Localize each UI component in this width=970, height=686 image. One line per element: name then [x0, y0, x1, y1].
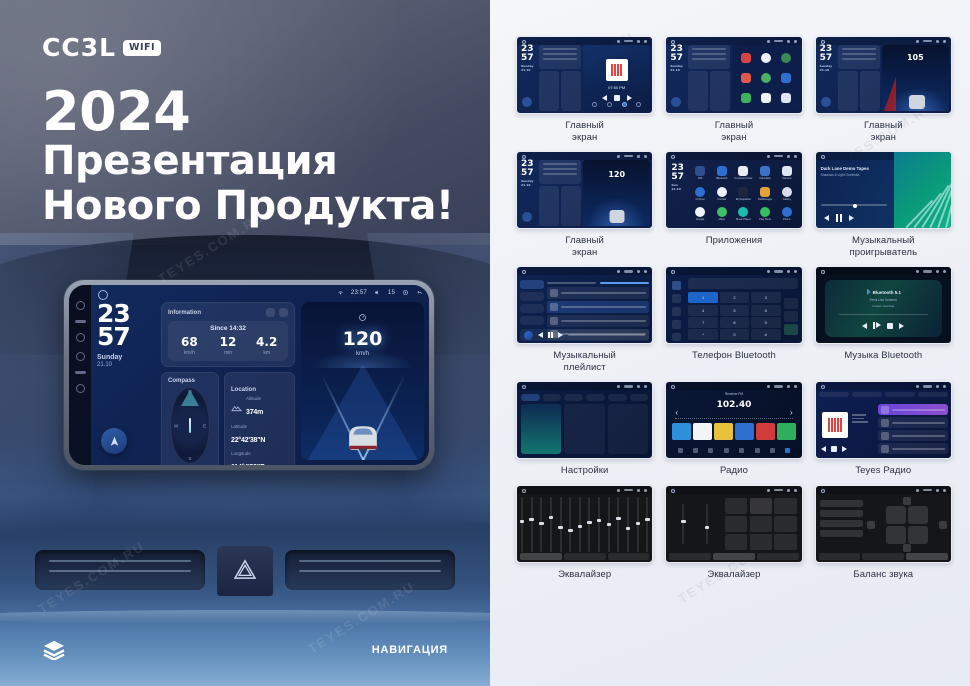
eq-slider[interactable] [646, 497, 648, 552]
bluetooth-artist: Custom Launcher [872, 304, 894, 308]
equalizer-tabs[interactable] [819, 553, 948, 560]
tab-about[interactable] [608, 394, 627, 401]
thumb-equalizer[interactable]: Эквалайзер [516, 485, 653, 581]
dial-key-3[interactable]: 3 [751, 292, 781, 303]
mini-nav-fab [522, 97, 532, 107]
tab-balance[interactable] [757, 553, 799, 560]
preset-6[interactable] [777, 423, 796, 440]
stop-icon[interactable] [831, 446, 837, 452]
mini-drive-widget: 105 [882, 45, 949, 111]
radio-dial-scale[interactable] [675, 413, 792, 419]
thumb-status-bar [816, 382, 951, 390]
equalizer-tabs[interactable] [520, 553, 649, 560]
thumb-image[interactable]: 2357Sun21.10 Wifi Bluetooth Keyboard Cle… [665, 151, 802, 229]
preset-5[interactable] [756, 423, 775, 440]
thumb-status-bar [666, 486, 801, 494]
more-card[interactable] [608, 404, 648, 454]
rail-apps-icon[interactable] [76, 333, 85, 342]
equalizer-sliders[interactable] [521, 497, 648, 552]
station-meta [852, 414, 868, 423]
compass-label-n: N [188, 389, 191, 394]
thumb-image[interactable]: 2357 Sunday21.10 07:50 PM [516, 36, 653, 114]
thumb-caption: Телефон Bluetooth [692, 350, 776, 362]
radio-band: Receiver FM [669, 392, 798, 396]
information-card-body: Since 14:32 68 km/h 12 [168, 321, 288, 361]
thumb-equalizer-2[interactable]: Эквалайзер [665, 485, 802, 581]
preset-button[interactable] [750, 498, 772, 514]
preset-button[interactable] [750, 534, 772, 550]
dialpad[interactable]: 123 456 789 *0# [688, 292, 797, 340]
thumb-caption: Эквалайзер [558, 569, 611, 581]
compass-label-s: S [188, 456, 191, 461]
eq-slider[interactable] [627, 497, 629, 552]
eq-slider[interactable] [521, 497, 523, 552]
stat-speed-value: 68 [170, 336, 209, 348]
thumb-image[interactable]: 2357Sunday21.10 120 [516, 151, 653, 229]
favorite-icon[interactable] [784, 298, 798, 309]
air-vent-right [285, 550, 455, 590]
eq-slider[interactable] [531, 497, 533, 552]
sidebar-item-folders[interactable] [520, 316, 544, 325]
hazard-button[interactable] [217, 546, 273, 596]
mini-speed-value: 120 [583, 170, 650, 179]
eq-slider[interactable] [637, 497, 639, 552]
tab-display[interactable] [564, 394, 583, 401]
app-item[interactable]: Chrome [690, 184, 710, 202]
stat-duration-unit: min [209, 350, 248, 356]
prev-icon[interactable] [821, 446, 826, 452]
wifi-card[interactable] [521, 404, 561, 454]
thumb-status-bar [517, 37, 652, 45]
tune-up-icon[interactable]: › [790, 408, 793, 417]
mountain-icon [231, 403, 242, 412]
app-item[interactable]: Google [690, 205, 710, 223]
thumb-caption: Teyes Радио [855, 465, 911, 477]
dial-key-6[interactable]: 6 [751, 305, 781, 316]
preset-button[interactable] [725, 534, 747, 550]
car-rear-illustration [342, 418, 384, 454]
information-card-buttons[interactable] [266, 308, 288, 317]
tab-sound[interactable] [543, 394, 562, 401]
station-list[interactable] [878, 404, 948, 454]
stat-distance-unit: km [247, 350, 286, 356]
preset-button[interactable] [774, 516, 796, 532]
tab-system[interactable] [586, 394, 605, 401]
hero-title-line-2: Нового Продукта! [42, 184, 454, 229]
eq-fader-treble[interactable] [706, 504, 708, 545]
rail-back-icon[interactable] [75, 320, 86, 323]
thumb-caption: Главныйэкран [565, 235, 604, 258]
stat-distance-value: 4.2 [247, 336, 286, 348]
preset-button[interactable] [774, 534, 796, 550]
sidebar-item-search[interactable] [672, 307, 681, 316]
list-item[interactable] [878, 430, 948, 441]
thumb-status-bar [666, 37, 801, 45]
eq-presets-panel[interactable] [671, 498, 796, 550]
thumb-image[interactable] [815, 381, 952, 459]
radio-presets[interactable] [672, 423, 795, 440]
car-interior: 23:57 15 23 57 Sunday [0, 245, 490, 686]
thumb-status-bar [816, 37, 951, 45]
thumb-settings[interactable]: Настройки [516, 381, 653, 477]
location-card[interactable]: Location Altitude 374m [224, 372, 295, 465]
list-item[interactable] [878, 443, 948, 454]
phone-sidebar[interactable] [668, 277, 685, 341]
balance-left-button[interactable] [867, 521, 875, 529]
dial-key-4[interactable]: 4 [688, 305, 718, 316]
prev-icon[interactable] [538, 332, 543, 338]
tab-eq[interactable] [669, 553, 711, 560]
tab-sound-field[interactable] [713, 553, 755, 560]
bluetooth-icon [866, 289, 871, 296]
preset-row[interactable] [820, 530, 863, 537]
next-icon[interactable] [842, 446, 847, 452]
widgets-row-2: Compass N S W E [161, 372, 295, 465]
tab-sound-field[interactable] [564, 553, 606, 560]
hero-footer-label: НАВИГАЦИЯ [372, 644, 448, 656]
teyes-tabs[interactable] [819, 392, 948, 397]
preset-button[interactable] [725, 498, 747, 514]
thumb-teyes-radio[interactable]: Teyes Радио [815, 381, 952, 477]
preset-button[interactable] [725, 516, 747, 532]
information-card[interactable]: Information Since 14:32 [161, 302, 295, 367]
brand-logo: CC3L WIFI [42, 33, 161, 62]
drive-view-panel[interactable]: 120 km/h [301, 302, 424, 460]
balance-up-button[interactable] [903, 497, 911, 505]
mini-clock: 2357 Sunday21.10 [519, 45, 537, 111]
dial-key-5[interactable]: 5 [720, 305, 750, 316]
app-item[interactable]: Bluetooth [712, 164, 732, 182]
head-unit-screen[interactable]: 23:57 15 23 57 Sunday [69, 285, 429, 465]
settings-cards[interactable] [521, 404, 648, 454]
navigation-arrow-icon [108, 435, 121, 448]
dial-key-hash[interactable]: # [751, 329, 781, 340]
app-item[interactable]: Calculator [755, 164, 775, 182]
page-title: 2024 Презентация Нового Продукта! [42, 84, 454, 229]
dial-key-7[interactable]: 7 [688, 317, 718, 328]
app-item[interactable]: Contact [712, 184, 732, 202]
tab-stations[interactable] [819, 392, 849, 397]
tab-wifi[interactable] [521, 394, 540, 401]
thumb-image[interactable]: 2357Sunday21.10 105 [815, 36, 952, 114]
tab-balance[interactable] [906, 553, 948, 560]
expand-icon[interactable] [279, 308, 288, 317]
compass-label-w: W [174, 423, 178, 428]
thumb-caption: Главныйэкран [864, 120, 903, 143]
sidebar-item-recents[interactable] [672, 320, 681, 329]
longitude-label: Longitude [231, 451, 288, 456]
next-icon[interactable] [899, 323, 904, 329]
balance-right-button[interactable] [939, 521, 947, 529]
dial-key-0[interactable]: 0 [720, 329, 750, 340]
thumb-caption: Эквалайзер [707, 569, 760, 581]
equalizer-tabs[interactable] [669, 553, 798, 560]
thumb-image[interactable]: 2357Sunday21.10 [665, 36, 802, 114]
thumb-home-screen-apps[interactable]: 2357Sunday21.10 [665, 36, 802, 143]
tab-search[interactable] [918, 392, 948, 397]
hazard-triangle-icon [234, 559, 256, 579]
dashboard-sheen [0, 610, 490, 624]
speaker-rear-right [908, 526, 928, 544]
rail-volume-icon[interactable] [76, 352, 85, 361]
information-card-header: Information [168, 308, 288, 317]
radio-toolbar[interactable] [672, 448, 795, 453]
dial-key-9[interactable]: 9 [751, 317, 781, 328]
pause-icon[interactable] [548, 332, 553, 338]
eq-faders[interactable] [671, 498, 719, 550]
clock-widget[interactable]: 23 57 Sunday 21.10 [97, 302, 155, 460]
presentation-slide: CC3L WIFI 2024 Презентация Нового Продук… [0, 0, 970, 686]
thumb-image[interactable] [516, 381, 653, 459]
tab-eq[interactable] [520, 553, 562, 560]
hero-footer: НАВИГАЦИЯ [0, 640, 490, 660]
app-item[interactable]: Phone [777, 205, 797, 223]
preset-4[interactable] [735, 423, 754, 440]
sidebar-item-dialpad[interactable] [672, 281, 681, 290]
app-item[interactable]: Keyboard Clear [734, 164, 754, 182]
hero-year: 2024 [42, 84, 454, 139]
thumb-bluetooth-phone[interactable]: 123 456 789 *0# Телефон Bluetooth [665, 266, 802, 373]
navigation-fab-button[interactable] [101, 428, 127, 454]
wifi-icon [337, 289, 344, 296]
prev-icon[interactable] [824, 215, 829, 221]
speaker-front-left [886, 506, 906, 524]
sidebar-item-artists[interactable] [520, 292, 544, 301]
thumb-image[interactable] [516, 266, 653, 344]
preset-1[interactable] [672, 423, 691, 440]
hero-panel: CC3L WIFI 2024 Презентация Нового Продук… [0, 0, 490, 686]
tab-eq[interactable] [819, 553, 861, 560]
desktop-body: 23 57 Sunday 21.10 [97, 302, 424, 460]
screen-side-rail[interactable] [69, 285, 91, 465]
compass-card-title: Compass [168, 378, 212, 384]
stat-duration: 12 min [209, 336, 248, 356]
speed-icon [358, 313, 367, 322]
thumb-caption: Баланс звука [853, 569, 913, 581]
preset-button[interactable] [750, 516, 772, 532]
volume-icon [374, 289, 381, 296]
speed-unit: km/h [301, 351, 424, 357]
mini-speed-widget: 120 [583, 160, 650, 226]
sidebar-item-tracks[interactable] [520, 280, 544, 289]
app-item[interactable]: Maps [712, 205, 732, 223]
list-item[interactable] [878, 404, 948, 415]
thumb-home-screen-drive[interactable]: 2357Sunday21.10 105 Главныйэкра [815, 36, 952, 143]
next-icon[interactable] [849, 215, 854, 221]
altitude-value: 374m [246, 409, 263, 416]
thumb-music-playlist[interactable]: Музыкальныйплейлист [516, 266, 653, 373]
information-card-title: Information [168, 310, 201, 316]
thumb-image[interactable] [665, 485, 802, 563]
bluetooth-controls[interactable] [862, 322, 904, 329]
album-thumb [524, 331, 533, 340]
eq-slider[interactable] [598, 497, 600, 552]
player-controls[interactable] [824, 214, 854, 222]
mini-app-drawer [732, 45, 799, 111]
eq-slider[interactable] [560, 497, 562, 552]
eq-slider[interactable] [608, 497, 610, 552]
play-pause-icon[interactable] [873, 322, 881, 329]
app-item[interactable]: Wifi [690, 164, 710, 182]
app-item[interactable]: Music Player [734, 205, 754, 223]
compass-needle [189, 418, 191, 433]
thumb-home-screen-media[interactable]: 2357 Sunday21.10 07:50 PM [516, 36, 653, 143]
latitude-value: 22°42'38"N [231, 437, 265, 444]
prev-icon[interactable] [862, 323, 867, 329]
thumb-image[interactable]: 123 456 789 *0# [665, 266, 802, 344]
stat-duration-value: 12 [209, 336, 248, 348]
call-icon[interactable] [784, 324, 798, 335]
dial-key-2[interactable]: 2 [720, 292, 750, 303]
eq-slider[interactable] [579, 497, 581, 552]
sidebar-item-settings[interactable] [672, 333, 681, 342]
thumb-caption: Настройки [561, 465, 608, 477]
screenshots-panel: 2357 Sunday21.10 07:50 PM [490, 0, 970, 686]
clock-minutes: 57 [97, 325, 155, 348]
preset-row[interactable] [820, 500, 863, 507]
thumb-image[interactable]: Bluetooth 5.1 Feels Like Summer Custom L… [815, 266, 952, 344]
preset-button[interactable] [774, 498, 796, 514]
thumb-home-screen-speed[interactable]: 2357Sunday21.10 120 Главныйэкран [516, 151, 653, 258]
app-item[interactable]: EQ Equalizer [734, 184, 754, 202]
tune-down-icon[interactable]: ‹ [675, 408, 678, 417]
eq-slider[interactable] [540, 497, 542, 552]
app-item[interactable]: Play Store [755, 205, 775, 223]
pause-icon[interactable] [836, 214, 842, 222]
preset-row[interactable] [820, 520, 863, 527]
status-volume: 15 [388, 290, 395, 296]
hotspot-card[interactable] [564, 404, 604, 454]
mini-media-widget: 07:50 PM [583, 45, 650, 111]
list-item[interactable] [547, 315, 649, 327]
thumb-sound-balance[interactable]: Баланс звука [815, 485, 952, 581]
latitude-row: Latitude 22°42'38"N [231, 424, 288, 447]
speed-value: 120 [301, 330, 424, 349]
tab-sound-field[interactable] [862, 553, 904, 560]
sidebar-item-contacts[interactable] [672, 294, 681, 303]
layers-icon [42, 640, 66, 660]
altitude-row: Altitude 374m [231, 396, 288, 419]
settings-tabs[interactable] [521, 394, 648, 401]
head-unit-bezel: 23:57 15 23 57 Sunday [64, 280, 434, 470]
head-unit-desktop: 23:57 15 23 57 Sunday [91, 285, 429, 465]
stop-icon[interactable] [887, 323, 893, 329]
backspace-icon[interactable] [784, 311, 798, 322]
bluetooth-track: Feels Like Summer [870, 298, 897, 302]
dial-key-star[interactable]: * [688, 329, 718, 340]
visualizer-lanes [894, 152, 951, 228]
balance-down-button[interactable] [903, 544, 911, 552]
gear-icon[interactable] [402, 289, 409, 296]
hero-title-line-1: Презентация [42, 139, 454, 184]
thumb-radio[interactable]: Receiver FM 102.40 ‹ › [665, 381, 802, 477]
eq-preset-grid[interactable] [725, 498, 797, 550]
tab-genres[interactable] [885, 392, 915, 397]
thumb-applications[interactable]: 2357Sun21.10 Wifi Bluetooth Keyboard Cle… [665, 151, 802, 258]
tab-favorites[interactable] [852, 392, 882, 397]
thumb-image[interactable]: Receiver FM 102.40 ‹ › [665, 381, 802, 459]
clock-weekday: Sunday [97, 354, 155, 361]
eq-slider[interactable] [569, 497, 571, 552]
dial-key-1[interactable]: 1 [688, 292, 718, 303]
longitude-row: Longitude 114°4'33"E [231, 451, 288, 465]
dial-key-8[interactable]: 8 [720, 317, 750, 328]
list-item[interactable] [547, 287, 649, 299]
preset-2[interactable] [693, 423, 712, 440]
thumb-image[interactable]: Dark Lane Demo Tapes Shadows & Light Orc… [815, 151, 952, 229]
player-track-title: Dark Lane Demo Tapes [821, 166, 889, 171]
mini-media-time: 07:50 PM [583, 85, 650, 90]
eq-fader-bass[interactable] [682, 504, 684, 545]
compass-card[interactable]: Compass N S W E [161, 372, 219, 465]
longitude-value: 114°4'33"E [231, 464, 264, 465]
app-item[interactable]: Gallery [777, 184, 797, 202]
teyes-player-controls[interactable] [821, 446, 847, 452]
thumb-status-bar [816, 267, 951, 275]
tab-balance[interactable] [608, 553, 650, 560]
app-drawer-grid[interactable]: Wifi Bluetooth Keyboard Clear Calculator… [688, 162, 798, 225]
preset-3[interactable] [714, 423, 733, 440]
widgets-column: Information Since 14:32 [161, 302, 295, 460]
eq-slider[interactable] [588, 497, 590, 552]
thumb-status-bar [666, 152, 801, 160]
album-art [822, 412, 848, 438]
list-item[interactable] [878, 417, 948, 428]
balance-presets[interactable] [820, 497, 863, 552]
thumb-image[interactable] [815, 485, 952, 563]
bluetooth-music-card: Bluetooth 5.1 Feels Like Summer Custom L… [825, 280, 942, 337]
next-icon[interactable] [558, 332, 563, 338]
list-item[interactable] [547, 301, 649, 313]
thumb-caption: Музыкальныйпроигрыватель [850, 235, 918, 258]
radio-frequency: 102.40 [669, 400, 798, 410]
compass-label-e: E [203, 423, 206, 428]
speaker-front-right [908, 506, 928, 524]
thumb-status-bar [666, 267, 801, 275]
thumb-caption: Музыкальныйплейлист [553, 350, 616, 373]
rail-settings-icon[interactable] [76, 384, 85, 393]
altitude-label: Altitude [246, 396, 263, 401]
speed-readout: 120 km/h [301, 312, 424, 357]
stat-speed-unit: km/h [170, 350, 209, 356]
thumb-bluetooth-music[interactable]: Bluetooth 5.1 Feels Like Summer Custom L… [815, 266, 952, 373]
mini-speed-alt: 105 [882, 53, 949, 62]
rail-home-icon[interactable] [76, 301, 85, 310]
eq-slider[interactable] [550, 497, 552, 552]
status-time: 23:57 [351, 290, 367, 296]
back-arrow-icon[interactable] [416, 289, 423, 296]
eq-slider[interactable] [617, 497, 619, 552]
tab-more[interactable] [630, 394, 649, 401]
player-track-artist: Shadows & Light Orchestra [821, 173, 889, 177]
rail-power-icon[interactable] [75, 371, 86, 374]
thumb-status-bar [517, 486, 652, 494]
app-item[interactable]: FileManager [755, 184, 775, 202]
thumb-status-bar [666, 382, 801, 390]
preset-row[interactable] [820, 510, 863, 517]
thumb-music-player[interactable]: Dark Lane Demo Tapes Shadows & Light Orc… [815, 151, 952, 258]
balance-pad[interactable] [867, 497, 947, 552]
thumb-caption: Главныйэкран [565, 120, 604, 143]
sidebar-item-albums[interactable] [520, 304, 544, 313]
now-playing-bar[interactable] [520, 329, 649, 341]
speaker-rear-left [886, 526, 906, 544]
thumb-image[interactable] [516, 485, 653, 563]
brand-wifi-badge: WIFI [123, 40, 161, 56]
stat-distance: 4.2 km [247, 336, 286, 356]
refresh-icon[interactable] [266, 308, 275, 317]
app-item[interactable]: Camera [777, 164, 797, 182]
